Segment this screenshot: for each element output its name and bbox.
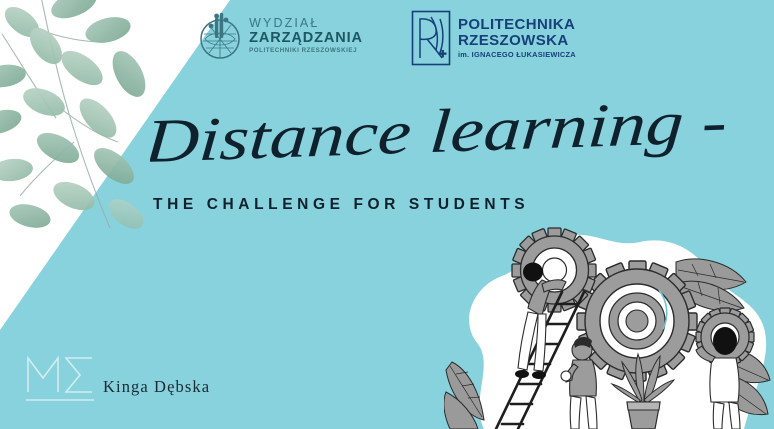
slide-title-text: Distance learning - xyxy=(150,104,729,176)
faculty-logo-block: WYDZIAŁ ZARZĄDZANIA POLITECHNIKI RZESZOW… xyxy=(198,10,363,62)
faculty-line-3: POLITECHNIKI RZESZOWSKIEJ xyxy=(249,48,363,54)
university-logo-block: POLITECHNIKA RZESZOWSKA im. IGNACEGO ŁUK… xyxy=(411,10,576,66)
university-line-2: RZESZOWSKA xyxy=(458,33,576,48)
author-name: Kinga Dębska xyxy=(103,377,210,397)
logo-bar: WYDZIAŁ ZARZĄDZANIA POLITECHNIKI RZESZOW… xyxy=(0,10,774,66)
presentation-slide: WYDZIAŁ ZARZĄDZANIA POLITECHNIKI RZESZOW… xyxy=(0,0,774,429)
slide-title: Distance learning - xyxy=(150,104,750,184)
university-line-3: im. IGNACEGO ŁUKASIEWICZA xyxy=(458,51,576,58)
faculty-logo-text: WYDZIAŁ ZARZĄDZANIA POLITECHNIKI RZESZOW… xyxy=(249,17,363,54)
me-monogram-watermark xyxy=(22,342,102,414)
university-line-1: POLITECHNIKA xyxy=(458,17,576,32)
university-logo-text: POLITECHNIKA RZESZOWSKA im. IGNACEGO ŁUK… xyxy=(458,17,576,58)
leaf-left xyxy=(444,362,484,429)
faculty-line-1: WYDZIAŁ xyxy=(249,17,363,30)
slide-title-script: Distance learning - xyxy=(150,104,750,184)
faculty-emblem-icon xyxy=(198,10,242,62)
university-emblem-icon xyxy=(411,10,451,66)
faculty-line-2: ZARZĄDZANIA xyxy=(249,31,363,46)
slide-subtitle: THE CHALLENGE FOR STUDENTS xyxy=(153,196,529,214)
teamwork-gears-illustration xyxy=(444,224,774,429)
